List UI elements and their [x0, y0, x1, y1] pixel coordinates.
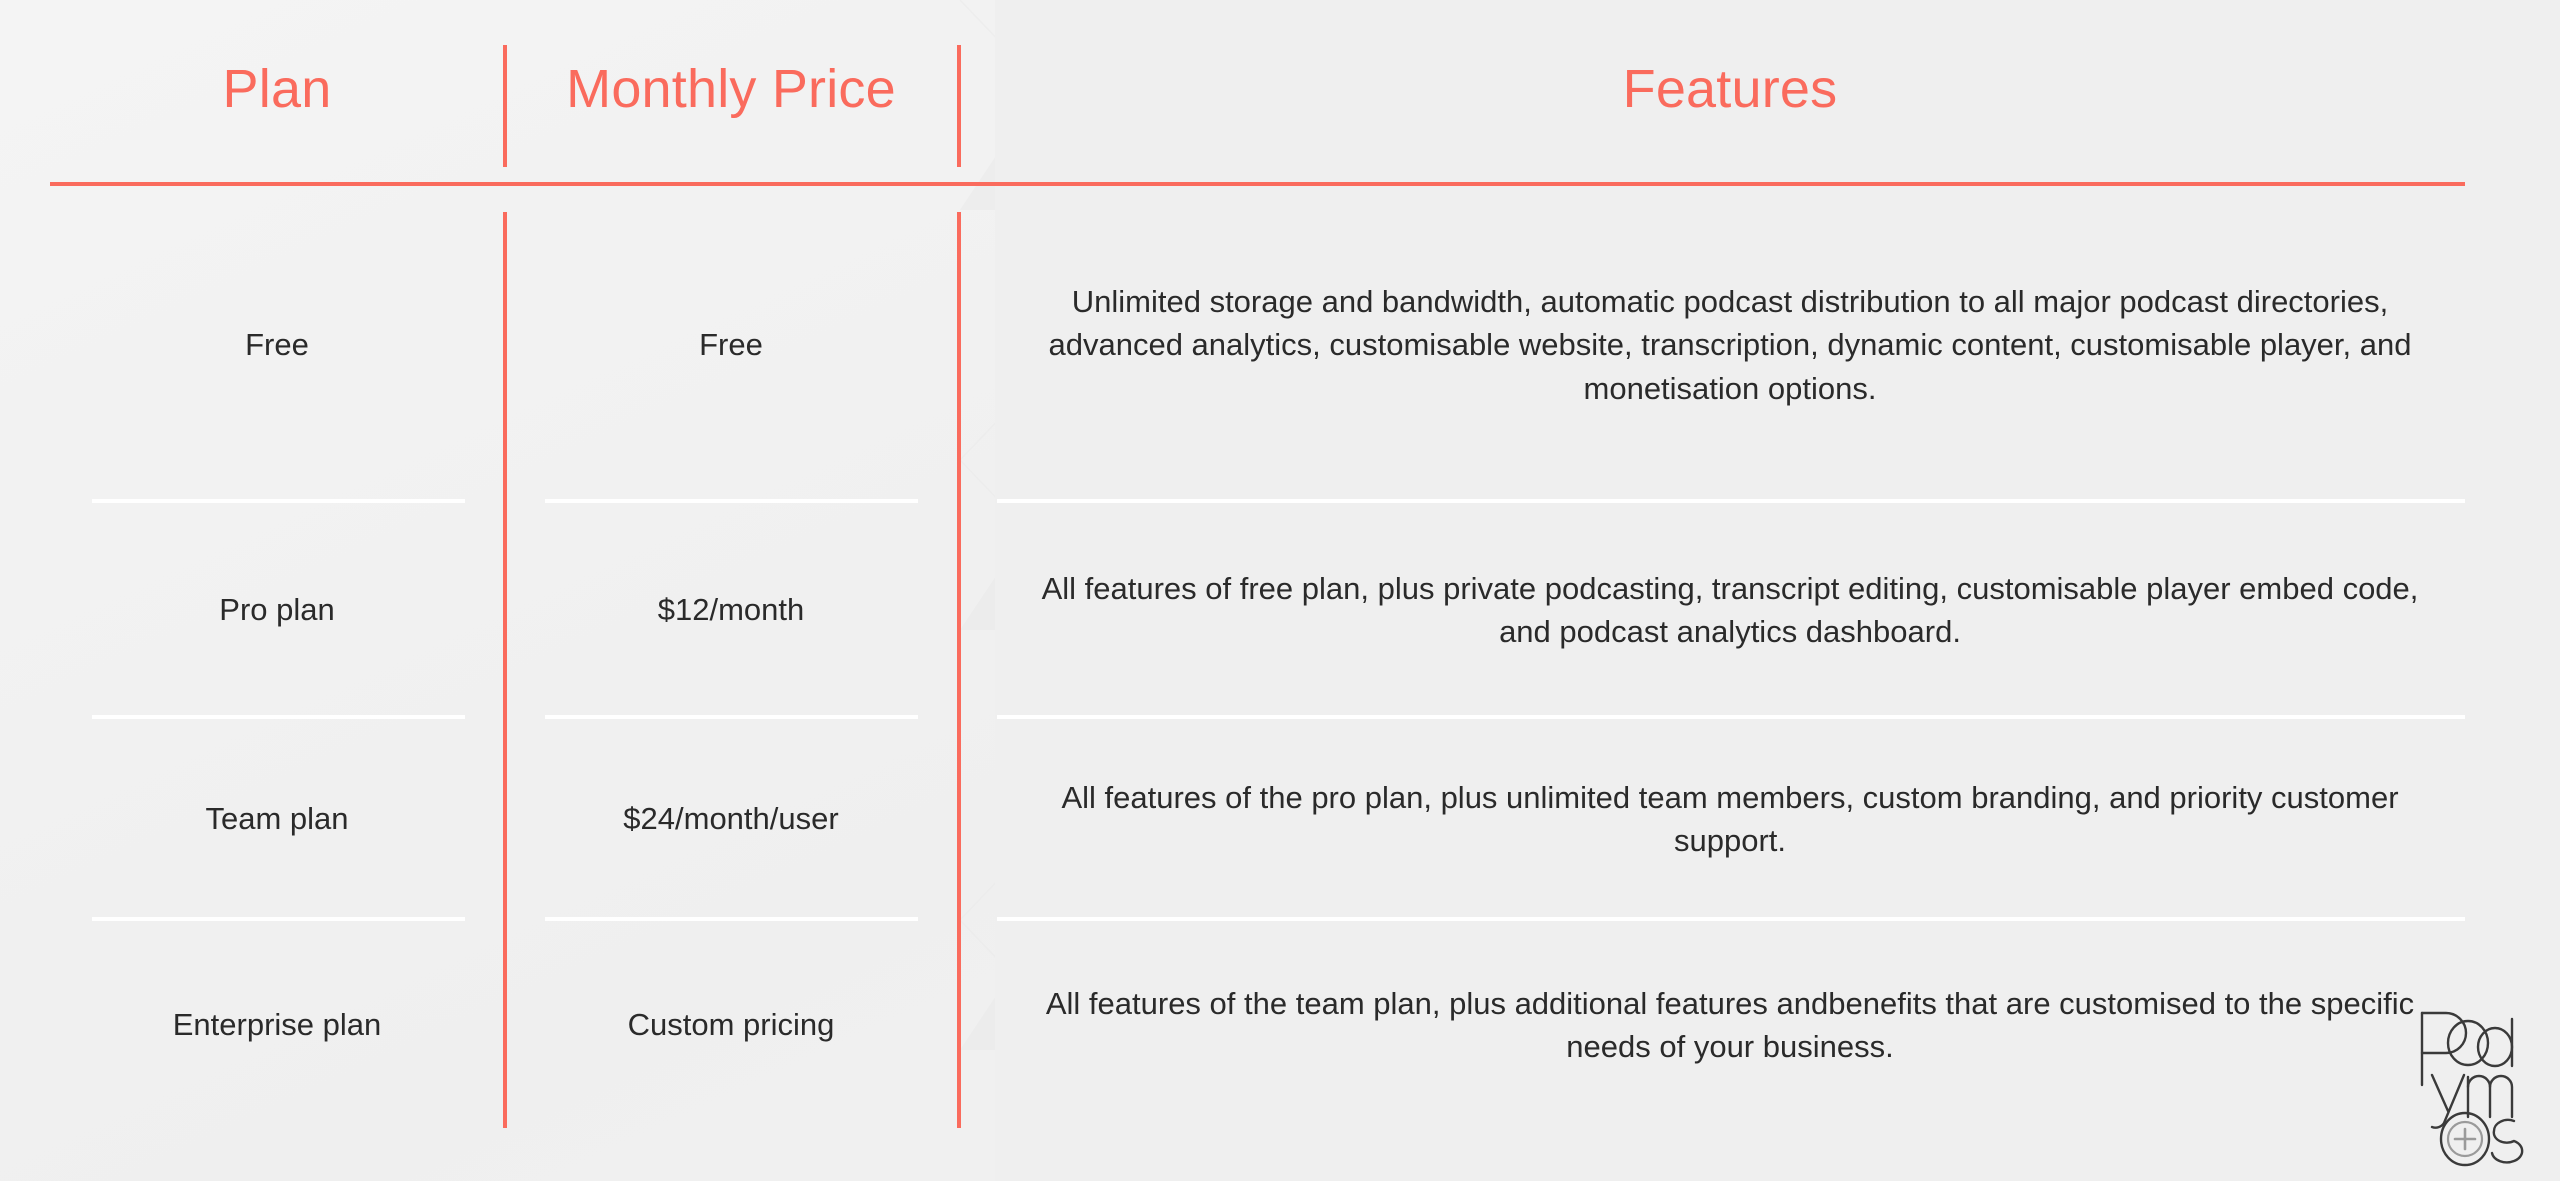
- column-header-features: Features: [995, 30, 2465, 150]
- column-header-monthly-price: Monthly Price: [504, 30, 958, 150]
- row-divider-3-plan: [92, 917, 465, 921]
- column-separator-1-body: [503, 212, 507, 1128]
- row-divider-3-price: [545, 917, 918, 921]
- row-divider-2-plan: [92, 715, 465, 719]
- table-row-plan-name: Free: [50, 190, 504, 500]
- table-row-plan-price: Free: [504, 190, 958, 500]
- table-row-plan-features: Unlimited storage and bandwidth, automat…: [995, 190, 2465, 500]
- table-row-plan-name: Enterprise plan: [50, 922, 504, 1128]
- header-divider-rule: [50, 182, 2465, 186]
- row-divider-1-plan: [92, 499, 465, 503]
- table-row-plan-name: Team plan: [50, 720, 504, 918]
- table-row-plan-name: Pro plan: [50, 504, 504, 716]
- column-separator-1-header: [503, 45, 507, 167]
- row-divider-1-features: [997, 499, 2465, 503]
- table-row-plan-features: All features of the pro plan, plus unlim…: [995, 720, 2465, 918]
- row-divider-1-price: [545, 499, 918, 503]
- table-row-plan-price: $12/month: [504, 504, 958, 716]
- pricing-table-page: Plan Monthly Price Features Free Free Un…: [0, 0, 2560, 1181]
- pricing-table: Plan Monthly Price Features Free Free Un…: [0, 0, 2560, 1181]
- table-row-plan-features: All features of free plan, plus private …: [995, 504, 2465, 716]
- table-row-plan-price: $24/month/user: [504, 720, 958, 918]
- table-row-plan-features: All features of the team plan, plus addi…: [995, 922, 2465, 1128]
- column-separator-2-header: [957, 45, 961, 167]
- row-divider-3-features: [997, 917, 2465, 921]
- row-divider-2-price: [545, 715, 918, 719]
- column-separator-2-body: [957, 212, 961, 1128]
- column-header-plan: Plan: [50, 30, 504, 150]
- row-divider-2-features: [997, 715, 2465, 719]
- table-row-plan-price: Custom pricing: [504, 922, 958, 1128]
